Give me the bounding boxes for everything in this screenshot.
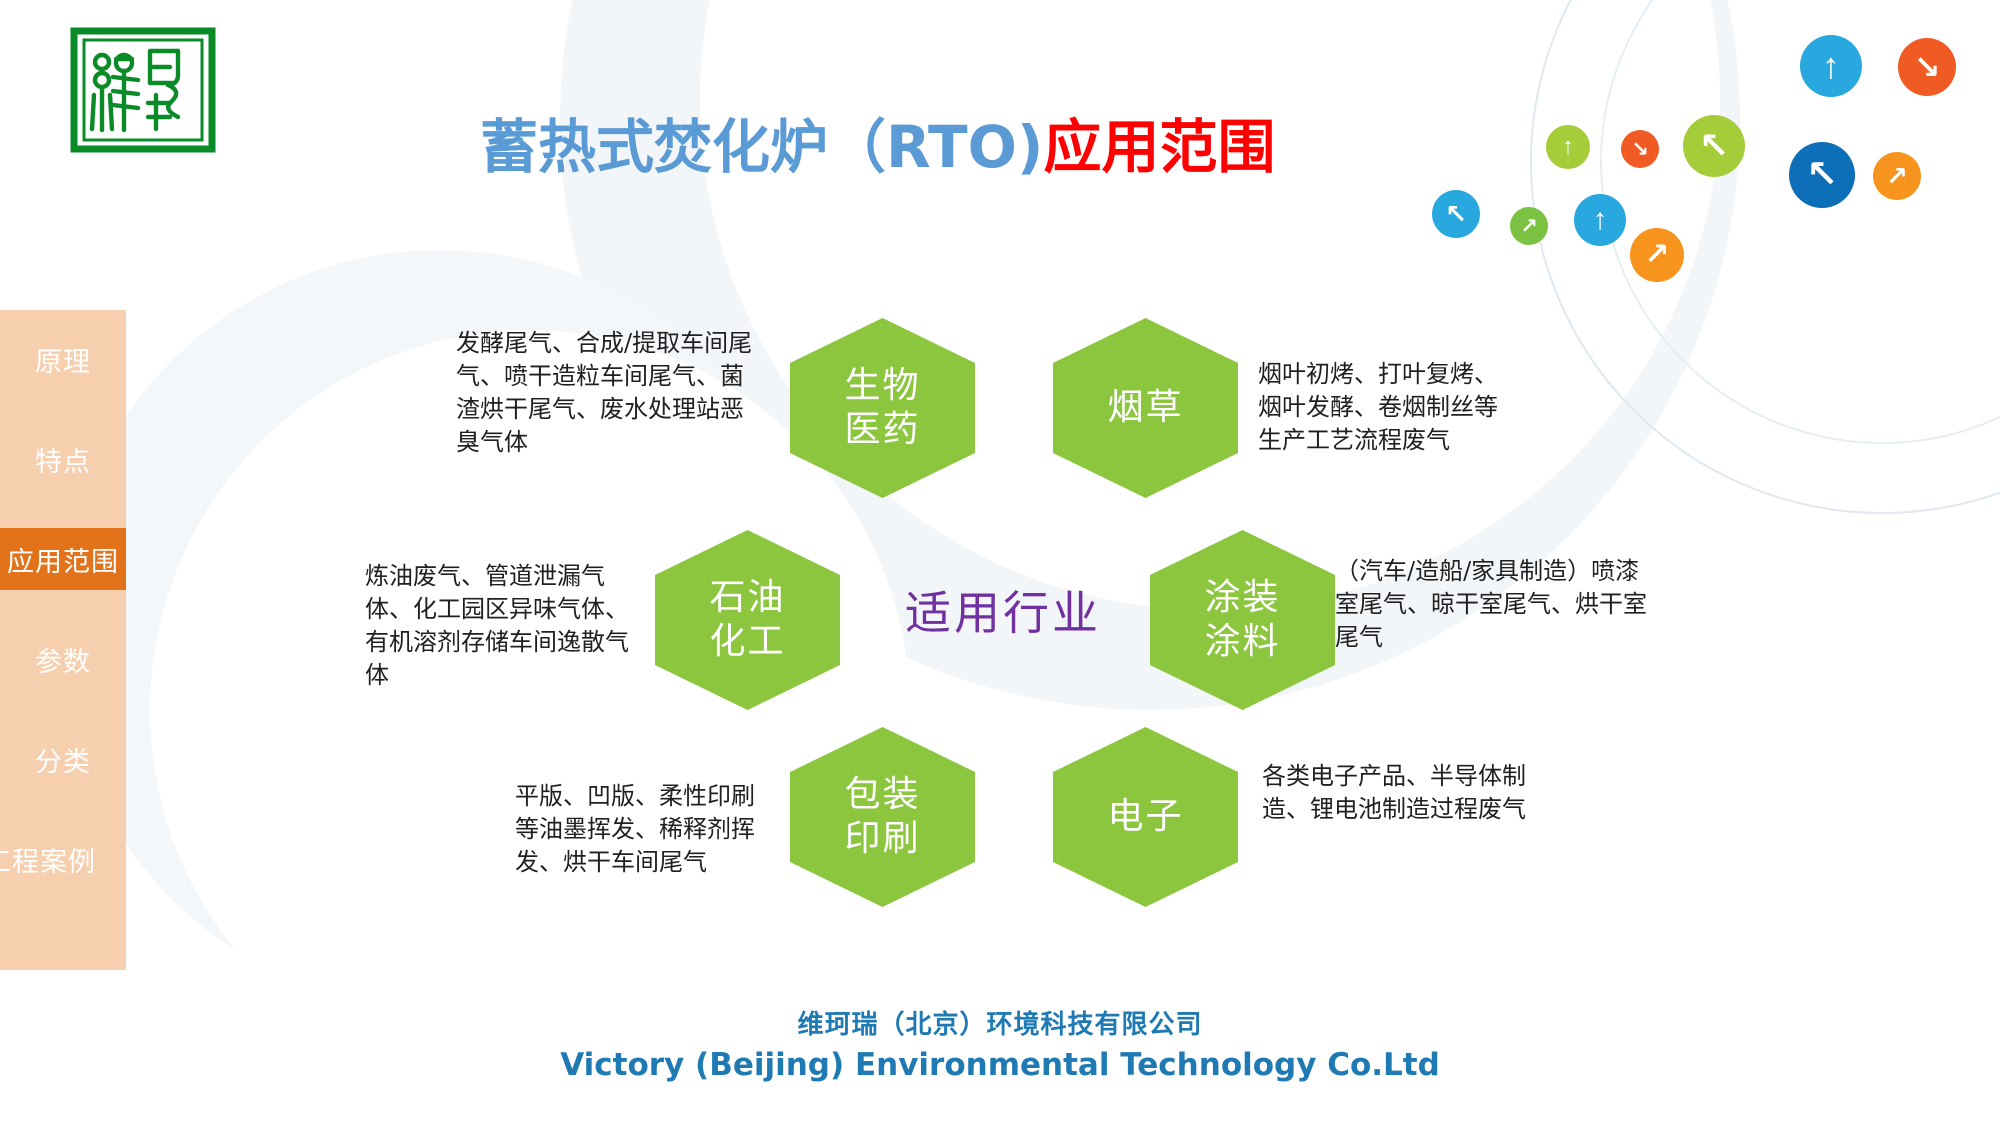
arrow-up-teal-large-icon: ↑	[1800, 35, 1862, 97]
sidebar-item-application-scope[interactable]: 应用范围	[0, 528, 126, 590]
diagram-center-label: 适用行业	[905, 577, 1101, 643]
hexagon-label-line: 石油	[709, 576, 785, 620]
sidebar-item-label: 特点	[35, 440, 91, 479]
hexagon-label-line: 包装	[844, 773, 920, 817]
page-title-accent: 应用范围	[1043, 113, 1275, 181]
hexagon-label-line: 生物	[844, 364, 920, 408]
arrow-down-right-orange-small-icon: ↘	[1621, 130, 1659, 168]
arrow-up-right-orange-mid-icon: ↗	[1630, 228, 1684, 282]
arrow-glyph: ↖	[1699, 128, 1729, 164]
footer-company-en: Victory (Beijing) Environmental Technolo…	[0, 1047, 2000, 1083]
arrow-glyph: ↘	[1914, 51, 1941, 83]
footer: 维珂瑞（北京）环境科技有限公司 Victory (Beijing) Enviro…	[0, 1004, 2000, 1083]
hexagon-label-line: 电子	[1107, 795, 1183, 839]
arrow-glyph: ↑	[1822, 48, 1840, 84]
hexagon-label-line: 涂料	[1204, 620, 1280, 664]
note-packaging-printing: 平版、凹版、柔性印刷等油墨挥发、稀释剂挥发、烘干车间尾气	[515, 780, 755, 879]
arrow-glyph: ↗	[1886, 163, 1908, 189]
arrow-up-left-green-icon: ↖	[1683, 115, 1745, 177]
arrow-glyph: ↗	[1644, 240, 1669, 270]
company-logo	[68, 25, 218, 155]
sidebar-item-principle[interactable]: 原理	[0, 328, 126, 390]
sidebar-item-parameters[interactable]: 参数	[0, 628, 126, 690]
note-coating: （汽车/造船/家具制造）喷漆室尾气、晾干室尾气、烘干室尾气	[1335, 555, 1647, 654]
arrow-up-teal-mid-icon: ↑	[1574, 194, 1626, 246]
sidebar-item-label: 分类	[35, 740, 91, 779]
arrow-glyph: ↗	[1520, 216, 1538, 237]
arrow-up-green-small-icon: ↑	[1546, 125, 1590, 169]
arrow-glyph: ↑	[1562, 135, 1574, 159]
arrow-up-left-blue-small-icon: ↖	[1432, 190, 1480, 238]
note-tobacco: 烟叶初烤、打叶复烤、烟叶发酵、卷烟制丝等生产工艺流程废气	[1258, 358, 1506, 457]
sidebar-item-label: 工程案例	[0, 840, 96, 879]
sidebar-item-project-cases[interactable]: 工程案例	[0, 828, 110, 890]
page-title-primary: 蓄热式焚化炉（RTO)	[480, 113, 1043, 181]
arrow-glyph: ↑	[1593, 205, 1608, 235]
sidebar-item-label: 参数	[35, 640, 91, 679]
hexagon-electronics[interactable]: 电子	[1053, 727, 1238, 907]
arrow-glyph: ↖	[1445, 201, 1467, 227]
sidebar-item-features[interactable]: 特点	[0, 428, 126, 490]
arrow-glyph: ↖	[1806, 156, 1838, 194]
arrow-up-right-orange-icon: ↗	[1873, 152, 1921, 200]
slide-root: 原理 特点 应用范围 参数 分类 工程案例 蓄热式焚化炉（RTO)应用范围 ↑ …	[0, 0, 2000, 1125]
note-bio-medicine: 发酵尾气、合成/提取车间尾气、喷干造粒车间尾气、菌渣烘干尾气、废水处理站恶臭气体	[456, 327, 756, 459]
hexagon-label-line: 烟草	[1107, 386, 1183, 430]
arrow-up-right-green-small-icon: ↗	[1510, 207, 1548, 245]
sidebar-item-label: 应用范围	[7, 540, 119, 579]
arrow-down-right-orange-large-icon: ↘	[1898, 38, 1956, 96]
hexagon-label-line: 医药	[844, 408, 920, 452]
hexagon-label-line: 印刷	[844, 817, 920, 861]
note-petrochemical: 炼油废气、管道泄漏气体、化工园区异味气体、有机溶剂存储车间逸散气体	[365, 560, 637, 692]
hexagon-label-line: 涂装	[1204, 576, 1280, 620]
arrow-up-left-blue-large-icon: ↖	[1789, 142, 1855, 208]
sidebar-item-label: 原理	[35, 340, 91, 379]
page-title: 蓄热式焚化炉（RTO)应用范围	[480, 100, 1275, 184]
footer-company-cn: 维珂瑞（北京）环境科技有限公司	[0, 1004, 2000, 1041]
sidebar-item-classification[interactable]: 分类	[0, 728, 126, 790]
hexagon-label-line: 化工	[709, 620, 785, 664]
sidebar-nav: 原理 特点 应用范围 参数 分类 工程案例	[0, 310, 126, 970]
arrow-glyph: ↘	[1631, 139, 1649, 160]
note-electronics: 各类电子产品、半导体制造、锂电池制造过程废气	[1262, 760, 1552, 826]
